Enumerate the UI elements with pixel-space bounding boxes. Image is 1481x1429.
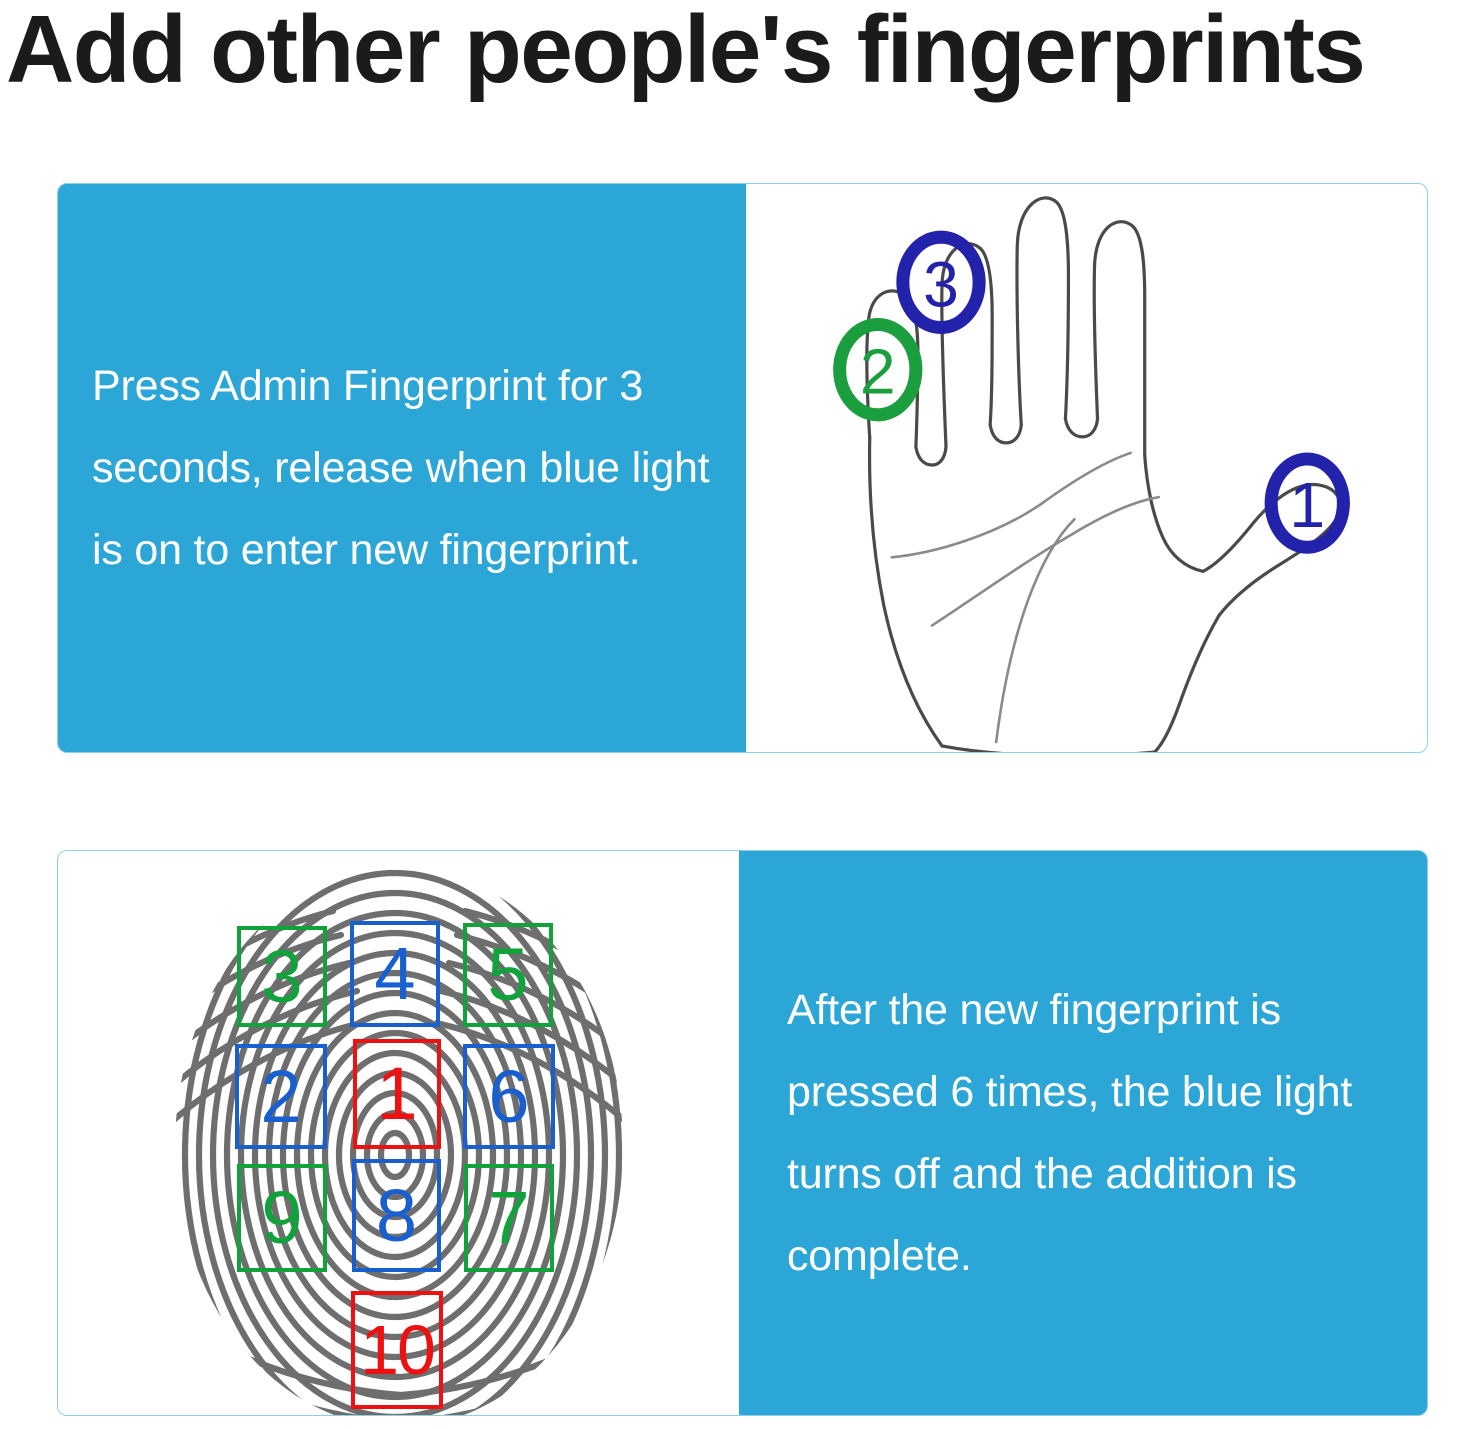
fp-box-2: 2	[235, 1044, 327, 1149]
fp-box-4: 4	[350, 921, 440, 1027]
step-card-setup: Press Admin Fingerprint for 3 seconds, r…	[57, 183, 1428, 753]
fp-box-1-label: 1	[357, 1057, 437, 1131]
instruction-text-setup: Press Admin Fingerprint for 3 seconds, r…	[58, 345, 746, 591]
fp-box-6: 6	[463, 1044, 555, 1149]
hand-marker-1-label: 1	[1289, 469, 1325, 541]
instruction-text-confirm: After the new fingerprint is pressed 6 t…	[739, 969, 1427, 1297]
fp-box-3-label: 3	[241, 940, 323, 1014]
fp-box-5: 5	[463, 923, 553, 1027]
instruction-panel-confirm: After the new fingerprint is pressed 6 t…	[739, 851, 1427, 1415]
step-card-confirm: 3 4 5 2 1 6 9 8	[57, 850, 1428, 1416]
page-title: Add other people's fingerprints	[6, 0, 1454, 106]
fp-box-1: 1	[353, 1039, 441, 1149]
instruction-panel-setup: Press Admin Fingerprint for 3 seconds, r…	[58, 184, 746, 752]
fp-box-7: 7	[464, 1164, 554, 1272]
fp-box-10: 10	[351, 1291, 443, 1409]
palm-creases	[892, 453, 1159, 742]
fp-box-3: 3	[237, 926, 327, 1027]
fp-box-7-label: 7	[468, 1181, 550, 1255]
hand-marker-2: 2	[840, 324, 916, 414]
fp-box-8: 8	[352, 1159, 441, 1272]
fp-box-9: 9	[237, 1164, 327, 1272]
hand-diagram-panel: 3 2 1	[746, 184, 1427, 752]
hand-marker-3-label: 3	[923, 248, 959, 320]
hand-marker-3: 3	[903, 237, 979, 327]
hand-marker-1: 1	[1271, 459, 1343, 547]
hand-marker-2-label: 2	[860, 336, 896, 408]
fp-box-2-label: 2	[239, 1060, 323, 1134]
fp-box-6-label: 6	[467, 1060, 551, 1134]
fp-box-8-label: 8	[356, 1179, 437, 1253]
fingerprint-grid-panel: 3 4 5 2 1 6 9 8	[58, 851, 739, 1415]
fp-box-5-label: 5	[467, 938, 549, 1012]
fp-box-9-label: 9	[241, 1181, 323, 1255]
fp-box-10-label: 10	[355, 1313, 439, 1387]
hand-diagram: 3 2 1	[746, 184, 1427, 752]
fp-box-4-label: 4	[354, 937, 436, 1011]
